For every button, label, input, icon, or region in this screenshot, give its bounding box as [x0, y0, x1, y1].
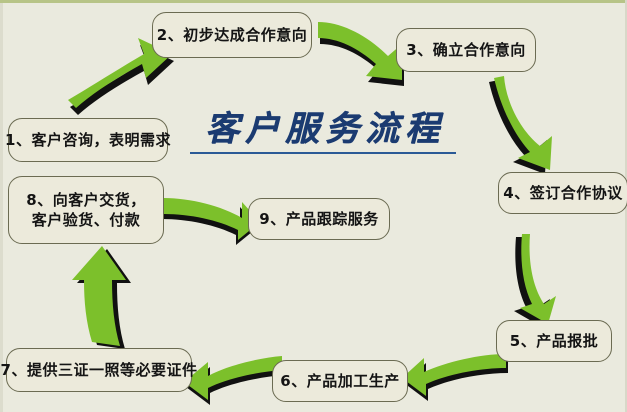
chart-title: 客户服务流程: [190, 112, 460, 154]
chart-title-text: 客户服务流程: [190, 112, 460, 146]
arrow-8-to-9: [162, 188, 262, 250]
frame-left-border: [0, 3, 3, 412]
chart-title-underline: [190, 152, 456, 154]
flow-node-step-4[interactable]: 4、签订合作协议: [498, 172, 627, 214]
flow-node-step-8[interactable]: 8、向客户交货， 客户验货、付款: [8, 176, 164, 244]
flow-node-step-9[interactable]: 9、产品跟踪服务: [248, 198, 390, 240]
flow-node-step-8-line-2: 客户验货、付款: [32, 210, 141, 230]
flow-node-step-5-line-1: 5、产品报批: [510, 331, 598, 351]
flow-node-step-8-line-1: 8、向客户交货，: [26, 190, 145, 210]
arrow-4-to-5: [498, 232, 588, 324]
flow-node-step-3[interactable]: 3、确立合作意向: [396, 28, 536, 72]
flow-node-step-7[interactable]: 7、提供三证一照等必要证件: [6, 348, 192, 392]
flow-node-step-5[interactable]: 5、产品报批: [496, 320, 612, 362]
flow-node-step-6[interactable]: 6、产品加工生产: [272, 360, 408, 402]
arrow-7-to-8: [56, 244, 146, 350]
flow-node-step-4-line-1: 4、签订合作协议: [503, 183, 622, 203]
flow-node-step-6-line-1: 6、产品加工生产: [280, 371, 399, 391]
flow-node-step-2-line-1: 2、初步达成合作意向: [157, 25, 307, 45]
arrow-6-to-7: [182, 348, 286, 408]
arrow-3-to-4: [486, 72, 586, 176]
flowchart-canvas: 客户服务流程 1、客户咨询，表明需求 2、初步达成合作意向 3、确立合作意向 4…: [0, 0, 627, 412]
flow-node-step-7-line-1: 7、提供三证一照等必要证件: [1, 360, 198, 380]
arrow-5-to-6: [400, 342, 510, 404]
flow-node-step-1[interactable]: 1、客户咨询，表明需求: [8, 118, 168, 162]
frame-top-border: [0, 0, 627, 3]
flow-node-step-1-line-1: 1、客户咨询，表明需求: [5, 130, 171, 150]
flow-node-step-9-line-1: 9、产品跟踪服务: [259, 209, 378, 229]
flow-node-step-2[interactable]: 2、初步达成合作意向: [152, 12, 312, 58]
flow-node-step-3-line-1: 3、确立合作意向: [406, 40, 525, 60]
